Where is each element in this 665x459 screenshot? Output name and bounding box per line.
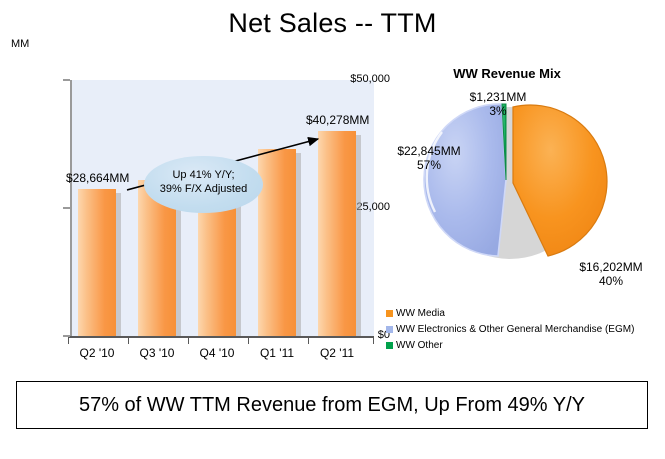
pie-label-egm: $22,845MM 57% bbox=[374, 144, 484, 172]
units-label: MM bbox=[11, 38, 29, 50]
legend-label-ww-media: WW Media bbox=[396, 308, 445, 319]
summary-banner-text: 57% of WW TTM Revenue from EGM, Up From … bbox=[79, 394, 585, 417]
pie-label-media-value: $16,202MM bbox=[579, 260, 642, 274]
x-tick-mark bbox=[373, 338, 374, 344]
pie-label-egm-value: $22,845MM bbox=[397, 144, 460, 158]
x-tick-label-q1-11: Q1 '11 bbox=[246, 346, 308, 360]
legend-item-ww-media[interactable]: WW Media bbox=[386, 306, 665, 321]
x-tick-mark bbox=[308, 338, 309, 344]
pie-label-egm-pct: 57% bbox=[417, 158, 441, 172]
bar-chart: $50,000 $25,000 $0 $28,664MM $40,278MM bbox=[0, 60, 390, 360]
legend-swatch-icon bbox=[386, 326, 393, 333]
x-tick-label-q4-10: Q4 '10 bbox=[186, 346, 248, 360]
x-tick-mark bbox=[188, 338, 189, 344]
summary-banner: 57% of WW TTM Revenue from EGM, Up From … bbox=[16, 381, 648, 429]
pie-label-other-pct: 3% bbox=[489, 104, 506, 118]
legend-label-ww-egm: WW Electronics & Other General Merchandi… bbox=[396, 324, 634, 335]
pie-label-media: $16,202MM 40% bbox=[557, 260, 665, 288]
x-tick-label-q3-10: Q3 '10 bbox=[126, 346, 188, 360]
x-tick-label-q2-11: Q2 '11 bbox=[306, 346, 368, 360]
x-tick-mark bbox=[248, 338, 249, 344]
legend-swatch-icon bbox=[386, 342, 393, 349]
legend-label-ww-other: WW Other bbox=[396, 340, 443, 351]
pie-label-other-value: $1,231MM bbox=[470, 90, 527, 104]
callout-bubble: Up 41% Y/Y; 39% F/X Adjusted bbox=[144, 156, 263, 213]
pie-label-media-pct: 40% bbox=[599, 274, 623, 288]
x-tick-mark bbox=[128, 338, 129, 344]
callout-line-2: 39% F/X Adjusted bbox=[160, 183, 247, 195]
callout-line-1: Up 41% Y/Y; bbox=[172, 169, 234, 181]
pie-legend: WW Media WW Electronics & Other General … bbox=[386, 306, 665, 354]
legend-swatch-icon bbox=[386, 310, 393, 317]
x-tick-label-q2-10: Q2 '10 bbox=[66, 346, 128, 360]
legend-item-ww-egm[interactable]: WW Electronics & Other General Merchandi… bbox=[386, 322, 665, 337]
page-title: Net Sales -- TTM bbox=[0, 8, 665, 39]
callout-text: Up 41% Y/Y; 39% F/X Adjusted bbox=[144, 168, 263, 196]
legend-item-ww-other[interactable]: WW Other bbox=[386, 338, 665, 353]
pie-chart: WW Revenue Mix bbox=[382, 62, 665, 362]
pie-slice-egm[interactable] bbox=[424, 104, 506, 256]
slide-canvas: Net Sales -- TTM MM $50,000 $25,000 $0 $… bbox=[0, 0, 665, 459]
pie-label-other: $1,231MM 3% bbox=[438, 90, 558, 118]
x-tick-mark bbox=[68, 338, 69, 344]
